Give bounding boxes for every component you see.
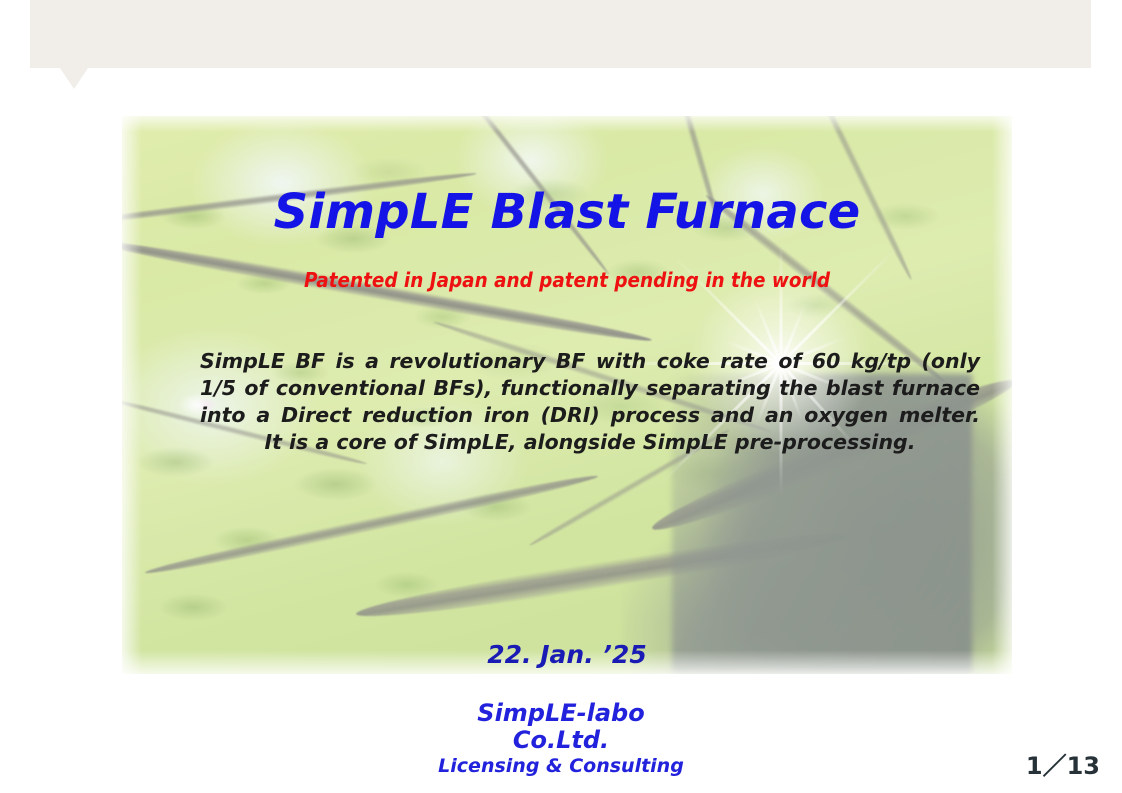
company-suffix: Co.Ltd. [0, 727, 1122, 754]
slide-canvas: SimpLE Blast Furnace Patented in Japan a… [0, 0, 1122, 793]
top-banner-notch-icon [60, 68, 88, 89]
summary-paragraph: SimpLE BF is a revolutionary BF with cok… [200, 348, 980, 456]
presentation-date: 22. Jan. ’25 [122, 640, 1012, 669]
patent-notice: Patented in Japan and patent pending in … [158, 268, 977, 292]
page-number: 1／13 [1026, 746, 1100, 781]
summary-line: into a Direct reduction iron (DRI) proce… [200, 402, 980, 429]
summary-line: It is a core of SimpLE, alongside SimpLE… [200, 429, 980, 456]
summary-line: SimpLE BF is a revolutionary BF with cok… [200, 348, 980, 375]
company-name: SimpLE-labo [0, 700, 1122, 727]
company-tagline: Licensing & Consulting [0, 754, 1122, 778]
top-banner [30, 0, 1091, 68]
footer: SimpLE-labo Co.Ltd. Licensing & Consulti… [0, 700, 1122, 778]
page-title: SimpLE Blast Furnace [122, 184, 1012, 240]
photo-text-layer: SimpLE Blast Furnace Patented in Japan a… [122, 116, 1012, 674]
summary-line: 1/5 of conventional BFs), functionally s… [200, 375, 980, 402]
title-photo: SimpLE Blast Furnace Patented in Japan a… [122, 116, 1012, 674]
